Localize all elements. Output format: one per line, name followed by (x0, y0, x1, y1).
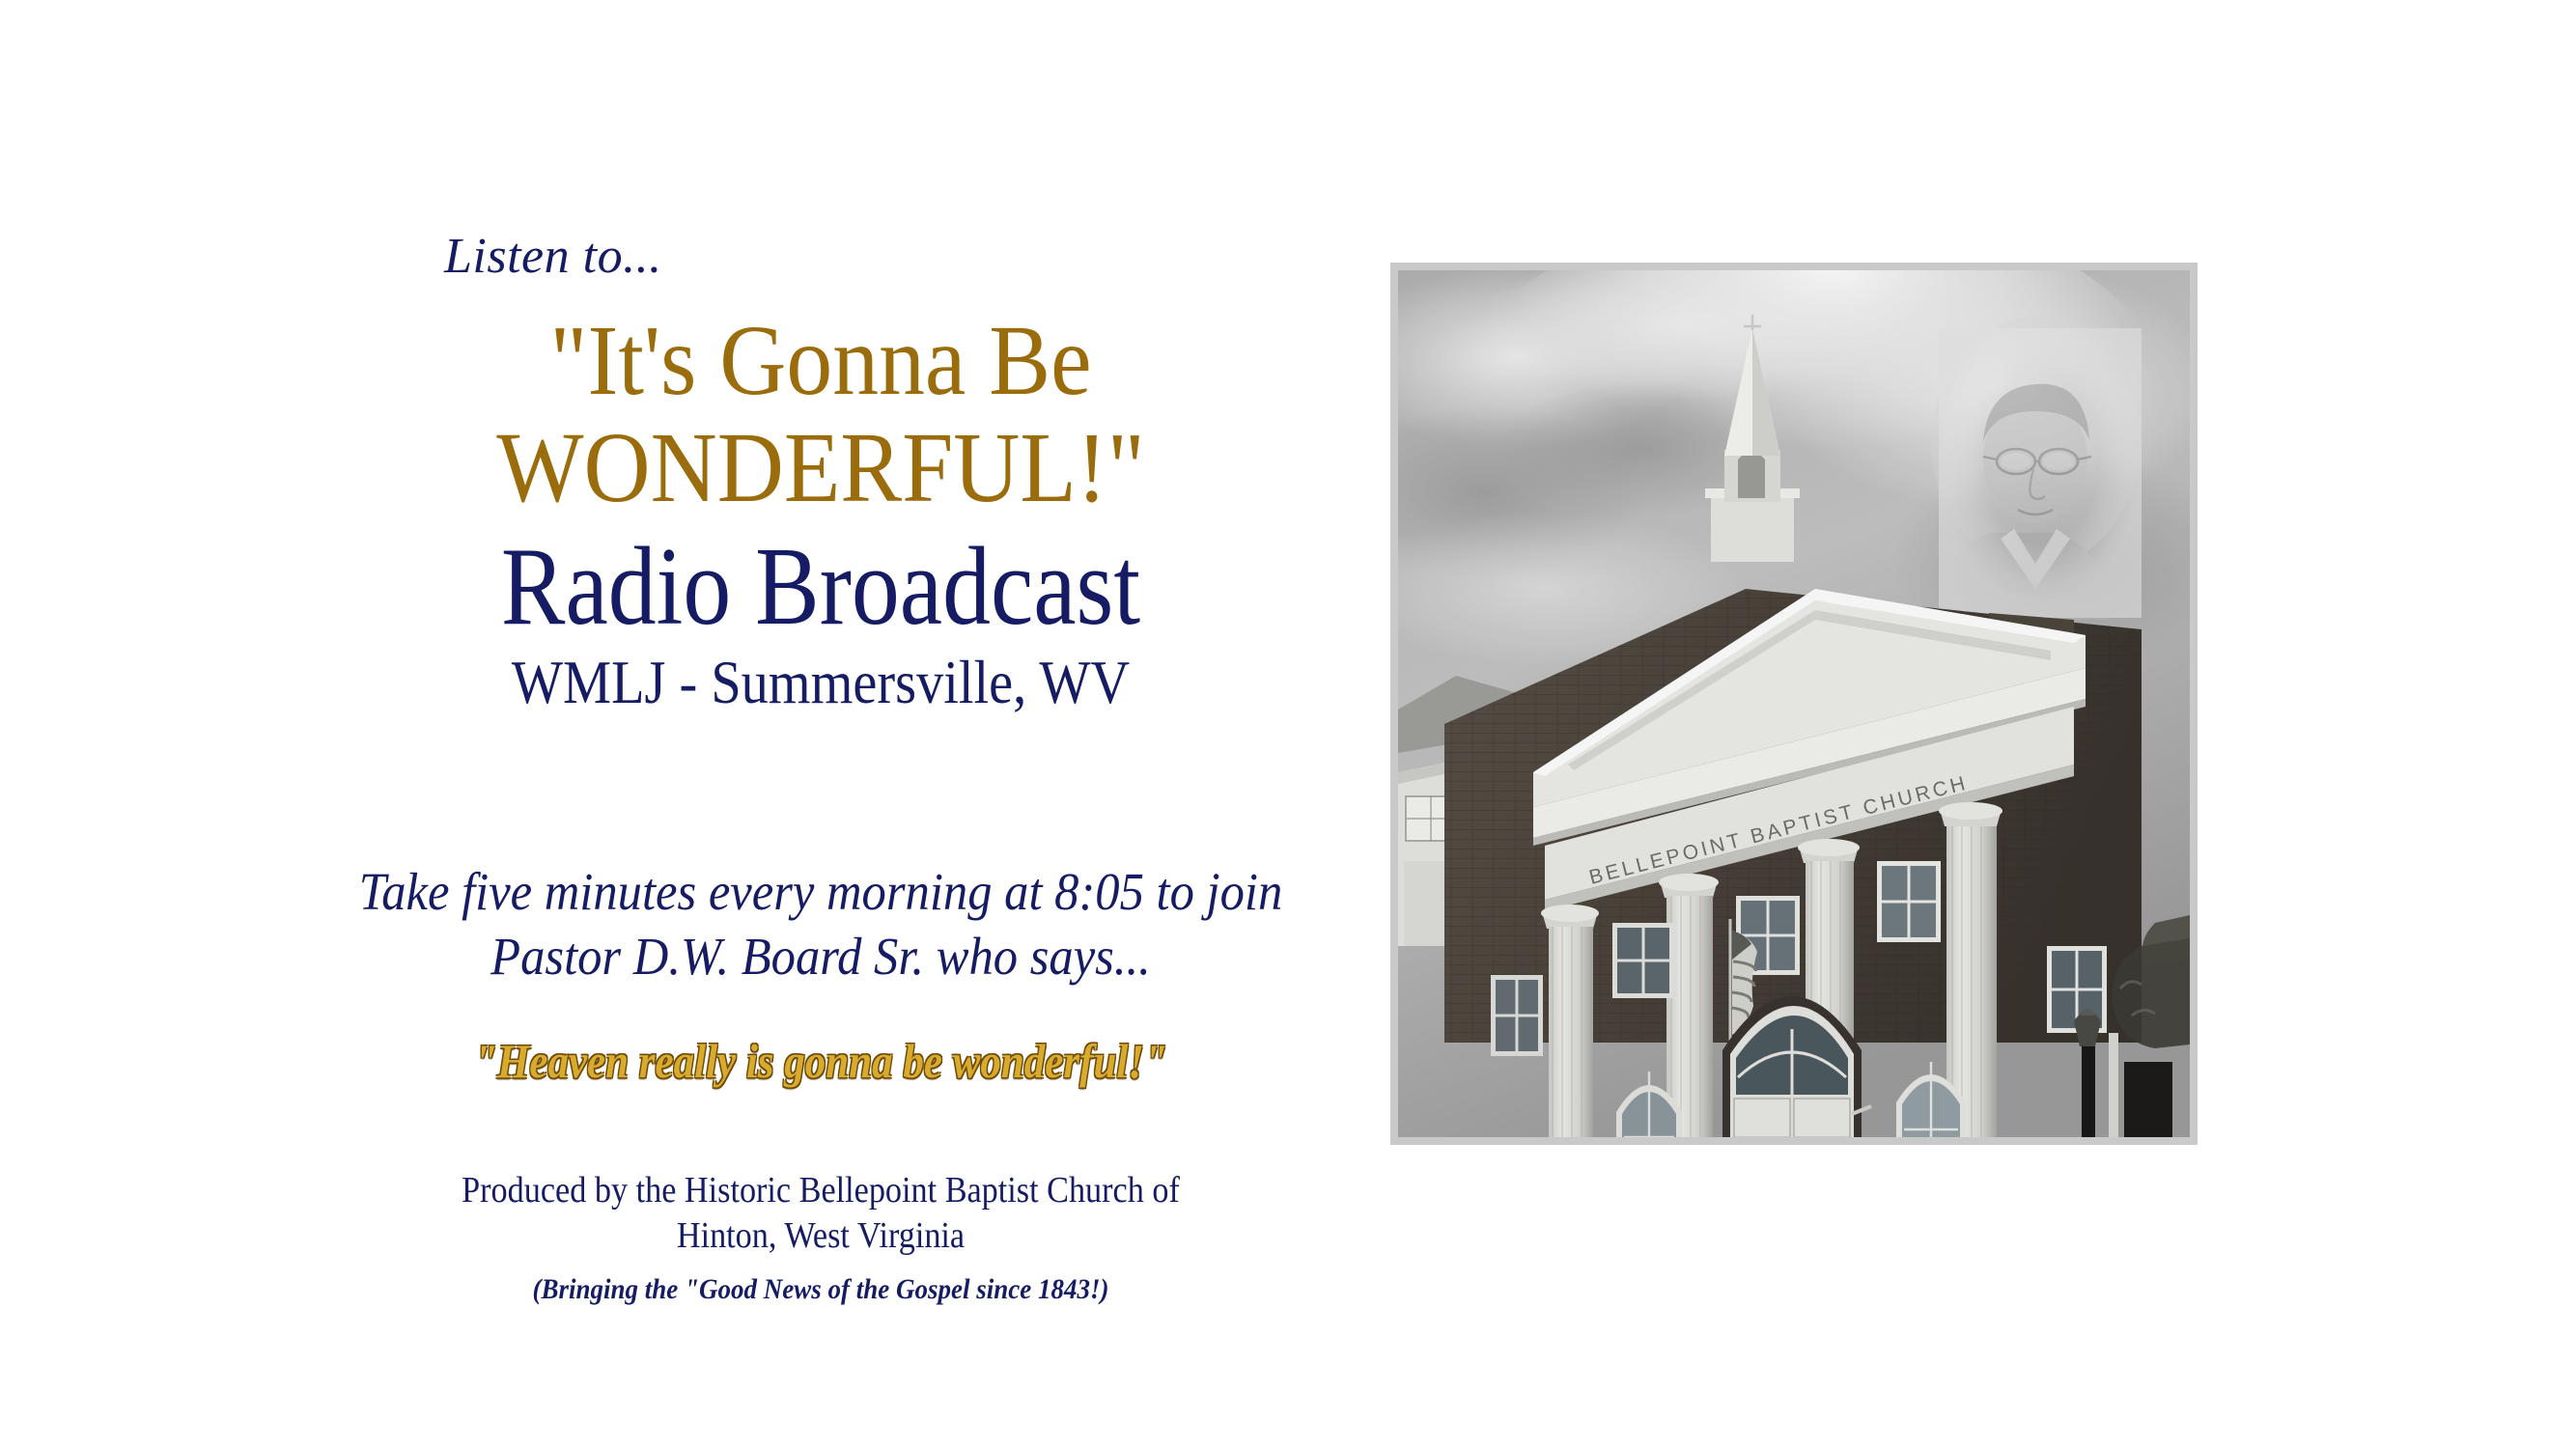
listen-to-label: Listen to... (444, 232, 1352, 282)
pull-quote: "Heaven really is gonna be wonderful!" (364, 1033, 1277, 1089)
station-line: WMLJ - Summersville, WV (353, 650, 1288, 714)
program-type-heading: Radio Broadcast (364, 530, 1277, 644)
headline-gold: "It's Gonna Be WONDERFUL!" (332, 307, 1309, 522)
headline-line-1: "It's Gonna Be (332, 307, 1309, 414)
invitation-line-2: Pastor D.W. Board Sr. who says... (332, 924, 1309, 989)
producer-line-1: Produced by the Historic Bellepoint Bapt… (343, 1168, 1299, 1212)
invitation-line-1: Take five minutes every morning at 8:05 … (332, 859, 1309, 924)
invitation-block: Take five minutes every morning at 8:05 … (332, 859, 1309, 989)
tagline: (Bringing the "Good News of the Gospel s… (343, 1273, 1299, 1306)
headline-line-2: WONDERFUL!" (332, 414, 1309, 521)
producer-credit: Produced by the Historic Bellepoint Bapt… (343, 1168, 1299, 1258)
church-photo-frame: BELLEPOINT BAPTIST CHURCH (1390, 263, 2198, 1145)
church-photograph: BELLEPOINT BAPTIST CHURCH (1398, 270, 2190, 1137)
producer-line-2: Hinton, West Virginia (343, 1213, 1299, 1258)
promo-text-column: Listen to... "It's Gonna Be WONDERFUL!" … (290, 232, 1352, 1306)
